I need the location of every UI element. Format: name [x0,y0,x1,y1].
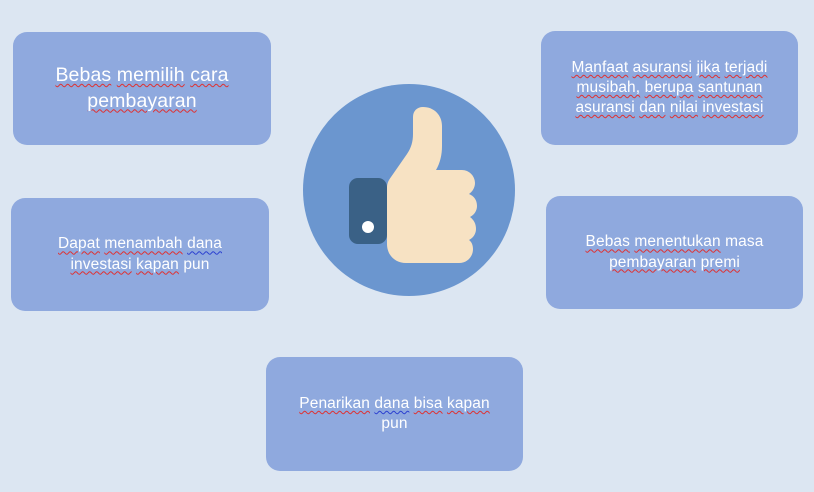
callout-box-middle-right[interactable]: Bebas menentukan masapembayaran premi [546,196,803,309]
cuff-shape [349,178,387,244]
hand-shape [387,107,477,263]
callout-text: Penarikan dana bisa kapanpun [299,394,489,434]
callout-text: Manfaat asuransi jika terjadimusibah, be… [572,58,768,118]
callout-box-bottom-center[interactable]: Penarikan dana bisa kapanpun [266,357,523,471]
callout-box-top-left[interactable]: Bebas memilih carapembayaran [13,32,271,145]
callout-text: Bebas memilih carapembayaran [55,63,228,114]
callout-box-top-right[interactable]: Manfaat asuransi jika terjadimusibah, be… [541,31,798,145]
callout-text: Bebas menentukan masapembayaran premi [586,232,764,272]
callout-box-middle-left[interactable]: Dapat menambah danainvestasi kapan pun [11,198,269,311]
diagram-canvas: Bebas memilih carapembayaran Manfaat asu… [0,0,814,492]
thumbs-up-icon [303,84,515,296]
cuff-dot-icon [362,221,374,233]
thumbs-up-badge [303,84,515,296]
callout-text: Dapat menambah danainvestasi kapan pun [58,234,222,274]
